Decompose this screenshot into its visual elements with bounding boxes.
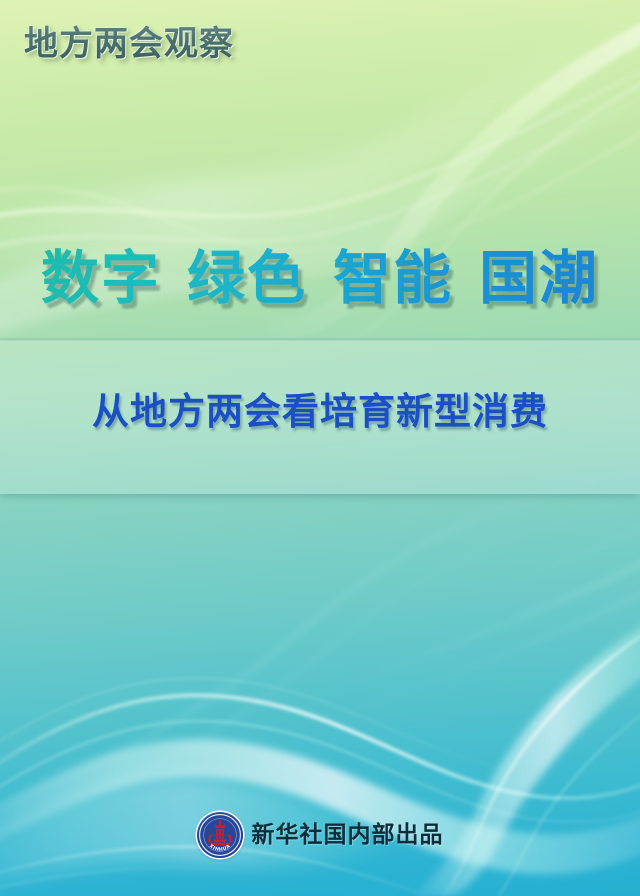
headline-word-4: 国潮 <box>479 244 599 312</box>
headline-word-1: 数字 <box>41 244 161 312</box>
footer-credit: 新华社国内部出品 <box>252 820 444 850</box>
footer: XINHUA 新华社国内部出品 <box>0 812 640 858</box>
headline-word-2: 绿色 <box>187 244 307 312</box>
xinhua-logo-icon: XINHUA <box>197 812 243 858</box>
subtitle: 从地方两会看培育新型消费 <box>0 387 640 437</box>
headline-word-3: 智能 <box>333 244 453 312</box>
kicker-label: 地方两会观察 <box>24 22 234 66</box>
poster-canvas: 地方两会观察 数字绿色智能国潮 从地方两会看培育新型消费 <box>0 0 640 896</box>
headline: 数字绿色智能国潮 <box>0 243 640 313</box>
